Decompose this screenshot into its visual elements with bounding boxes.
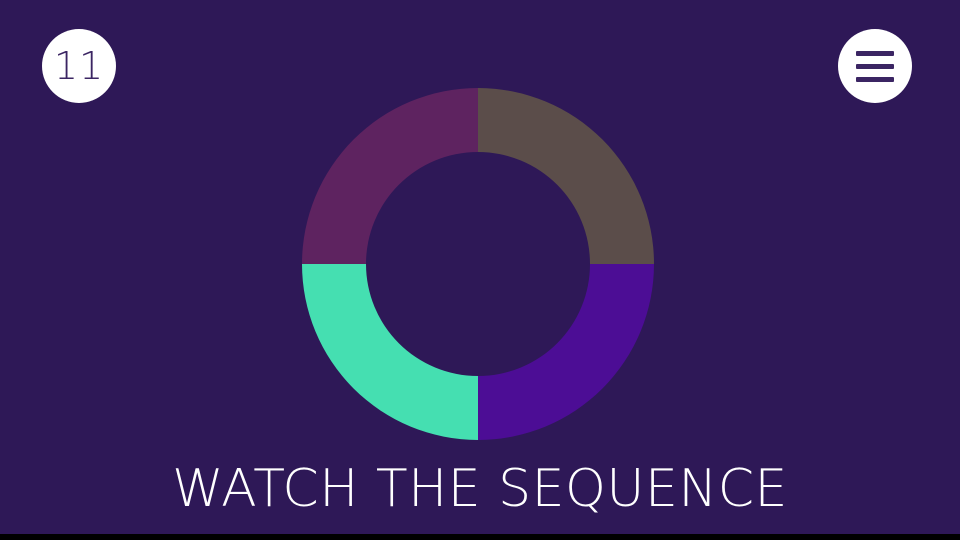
sequence-ring[interactable] bbox=[302, 88, 654, 440]
caption-text: WATCH THE SEQUENCE bbox=[0, 458, 960, 520]
hamburger-menu-icon-bar-3 bbox=[856, 77, 894, 82]
menu-button[interactable] bbox=[838, 29, 912, 103]
ring-segment-top-left[interactable] bbox=[302, 88, 478, 264]
game-screen: 11 WATCH THE SEQUENCE bbox=[0, 0, 960, 540]
ring-segment-bottom-right[interactable] bbox=[478, 264, 654, 440]
hamburger-menu-icon-bar-2 bbox=[856, 64, 894, 69]
ring-segment-top-right[interactable] bbox=[478, 88, 654, 264]
hamburger-menu-icon-bar-1 bbox=[856, 51, 894, 56]
level-badge: 11 bbox=[42, 29, 116, 103]
ring-segment-bottom-left[interactable] bbox=[302, 264, 478, 440]
sequence-ring-svg bbox=[302, 88, 654, 440]
letterbox-strip bbox=[0, 534, 960, 540]
level-number: 11 bbox=[54, 47, 104, 85]
